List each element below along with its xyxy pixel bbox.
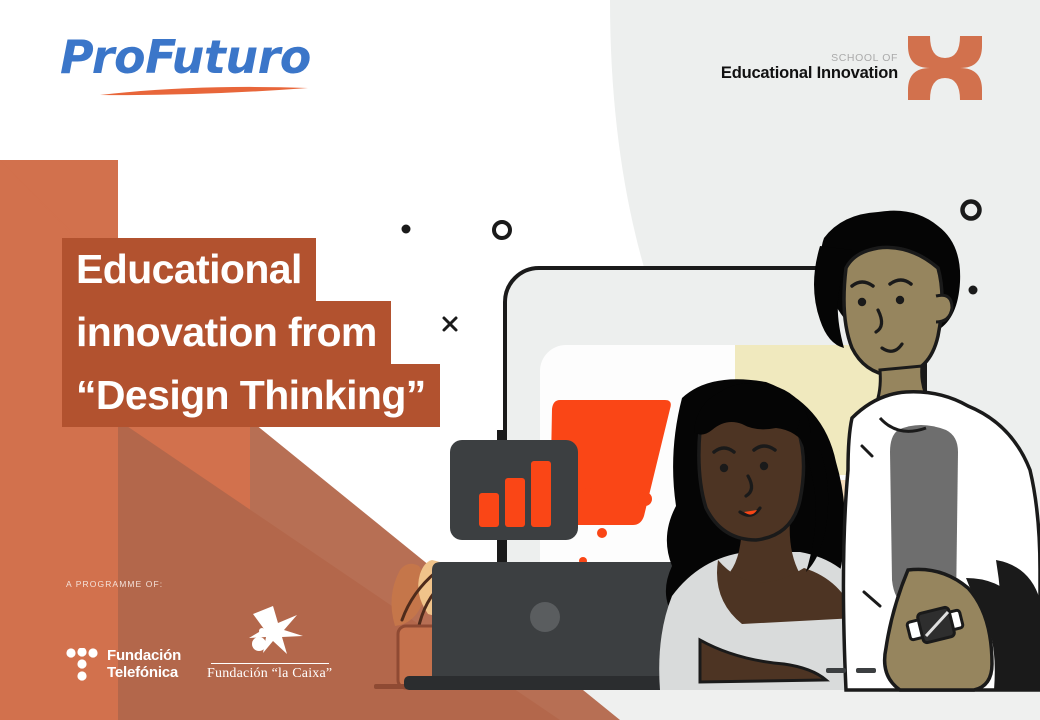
decorative-ring [963,202,980,219]
cover-slide: ProFuturo SCHOOL OF Educational Innovati… [0,0,1040,720]
tablet-bar-chart [450,440,578,540]
chart-bar [531,461,551,527]
lacaixa-star-icon [237,606,303,656]
decorative-dot [969,286,978,295]
profuturo-underline-swoosh [96,82,316,100]
school-logo-text: SCHOOL OF Educational Innovation [721,53,898,82]
lacaixa-rule [211,663,329,664]
school-title: Educational Innovation [721,65,898,82]
telefonica-wordmark: Fundación Telefónica [107,648,181,682]
x-mark-icon [908,36,982,100]
credits-kicker: A PROGRAMME OF: [66,579,332,589]
telefonica-line-1: Fundación [107,648,181,665]
credits-block: A PROGRAMME OF: Fundación Telefónica [66,579,332,682]
page-title: Educational innovation from “Design Thin… [62,238,440,427]
partner-logos: Fundación Telefónica Fundación “la Caixa… [66,606,332,682]
headline-line-2: innovation from [62,301,391,364]
telefonica-dots-icon [66,648,98,682]
school-kicker: SCHOOL OF [721,53,898,64]
chart-bar [479,493,499,527]
lacaixa-wordmark: Fundación “la Caixa” [207,666,332,682]
headline-line-3: “Design Thinking” [62,364,440,427]
headline-line-1: Educational [62,238,316,301]
decorative-dot [402,225,411,234]
fundacion-telefonica-logo[interactable]: Fundación Telefónica [66,648,181,682]
profuturo-wordmark: ProFuturo [60,34,350,80]
chart-bar [505,478,525,527]
decorative-x-mark [444,318,456,330]
man-figure [814,211,1040,690]
fundacion-la-caixa-logo[interactable]: Fundación “la Caixa” [207,606,332,682]
decorative-ring [494,222,510,238]
telefonica-line-2: Telefónica [107,665,181,682]
profuturo-logo[interactable]: ProFuturo [60,34,350,114]
school-of-educational-innovation-logo[interactable]: SCHOOL OF Educational Innovation [721,36,982,100]
